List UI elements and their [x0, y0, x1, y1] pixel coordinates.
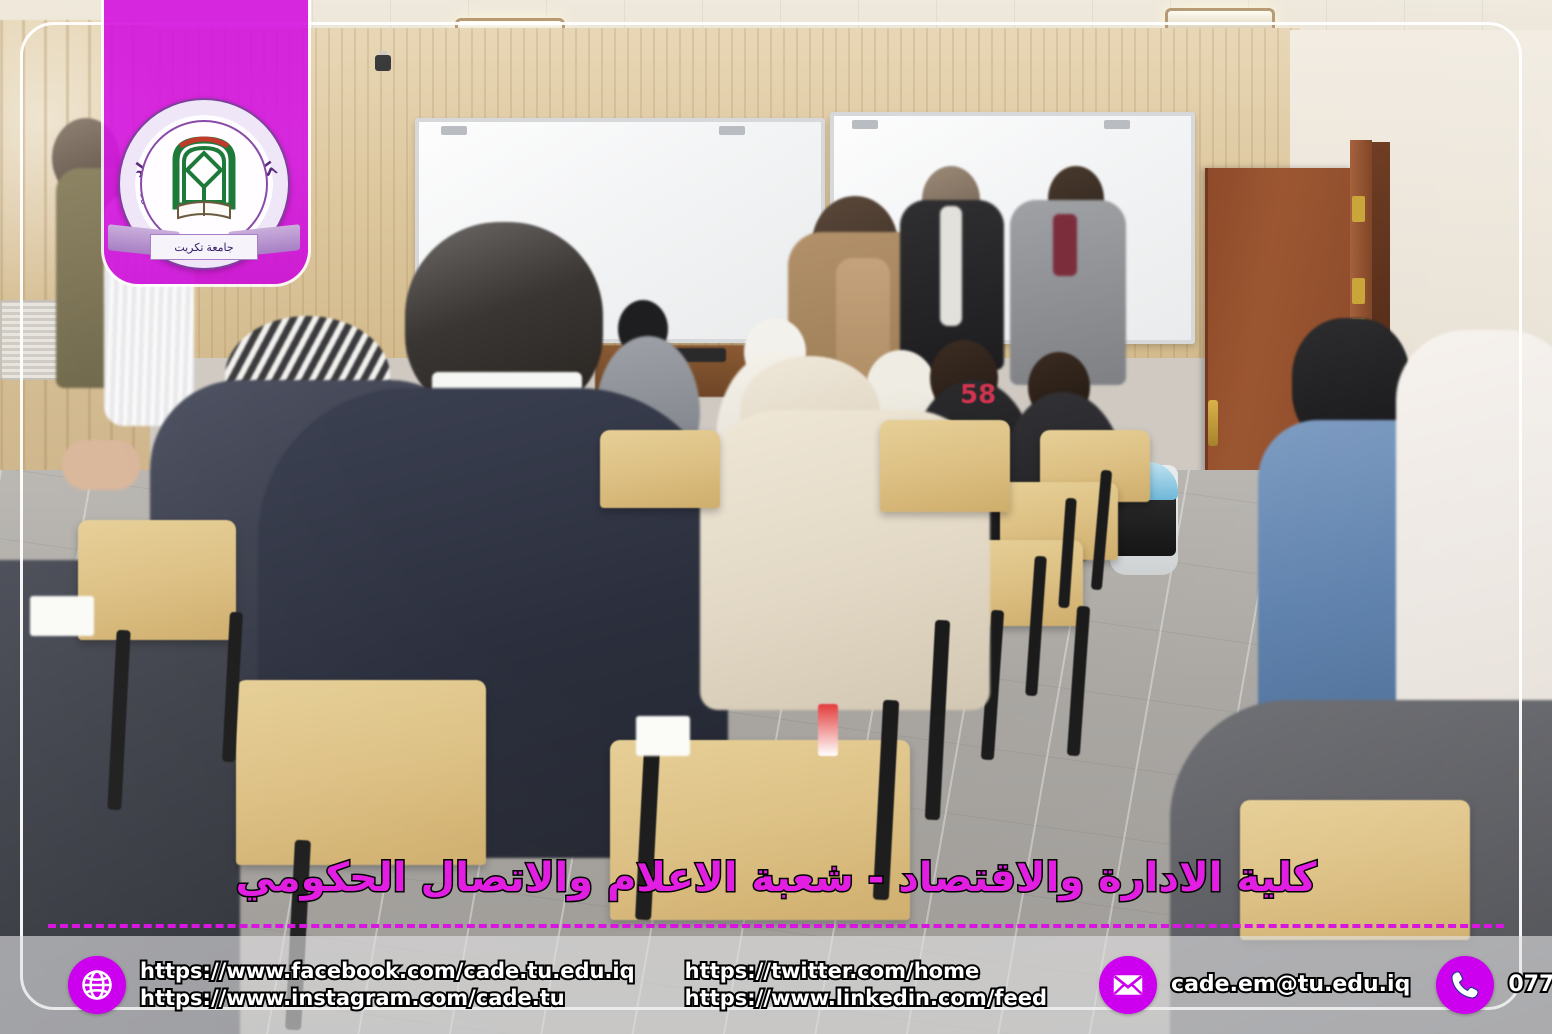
- instagram-url[interactable]: https://www.instagram.com/cade.tu: [140, 986, 635, 1011]
- footer-group-phone: 07718055128: [1436, 956, 1552, 1014]
- exam-paper: [30, 596, 94, 636]
- student-far-right: [1396, 330, 1552, 750]
- caption-bar: كلية الادارة والاقتصاد - شعبة الاعلام وا…: [0, 838, 1552, 918]
- door-hinge: [1352, 196, 1365, 222]
- footer-group-social-2: https://twitter.com/home https://www.lin…: [685, 959, 1047, 1011]
- phone-icon[interactable]: [1436, 956, 1494, 1014]
- globe-icon[interactable]: [68, 956, 126, 1014]
- pen: [818, 704, 838, 756]
- facebook-url[interactable]: https://www.facebook.com/cade.tu.edu.iq: [140, 959, 635, 984]
- college-logo: كلية الادارة والاقتصاد College of Admini…: [118, 98, 290, 270]
- email-address[interactable]: cade.em@tu.edu.iq: [1171, 972, 1410, 998]
- envelope-icon[interactable]: [1099, 956, 1157, 1014]
- hoodie-print: 58: [960, 380, 998, 406]
- security-camera-icon: [375, 55, 391, 71]
- contact-footer: https://www.facebook.com/cade.tu.edu.iq …: [0, 936, 1552, 1034]
- footer-group-social-web: https://www.facebook.com/cade.tu.edu.iq …: [68, 956, 635, 1014]
- twitter-url[interactable]: https://twitter.com/home: [685, 959, 1047, 984]
- door-hinge: [1352, 278, 1365, 304]
- dashed-separator: [48, 924, 1504, 928]
- poster-canvas: 58: [0, 0, 1552, 1034]
- logo-ribbon: جامعة تكريت: [108, 222, 300, 266]
- scarf: [940, 206, 962, 326]
- linkedin-url[interactable]: https://www.linkedin.com/feed: [685, 986, 1047, 1011]
- hand: [62, 440, 140, 490]
- exam-paper: [636, 716, 690, 756]
- footer-group-email: cade.em@tu.edu.iq: [1099, 956, 1410, 1014]
- phone-number[interactable]: 07718055128: [1508, 972, 1552, 998]
- door-handle: [1208, 400, 1218, 446]
- caption-text: كلية الادارة والاقتصاد - شعبة الاعلام وا…: [235, 855, 1316, 901]
- logo-ribbon-text: جامعة تكريت: [174, 241, 233, 254]
- necktie: [1053, 214, 1077, 276]
